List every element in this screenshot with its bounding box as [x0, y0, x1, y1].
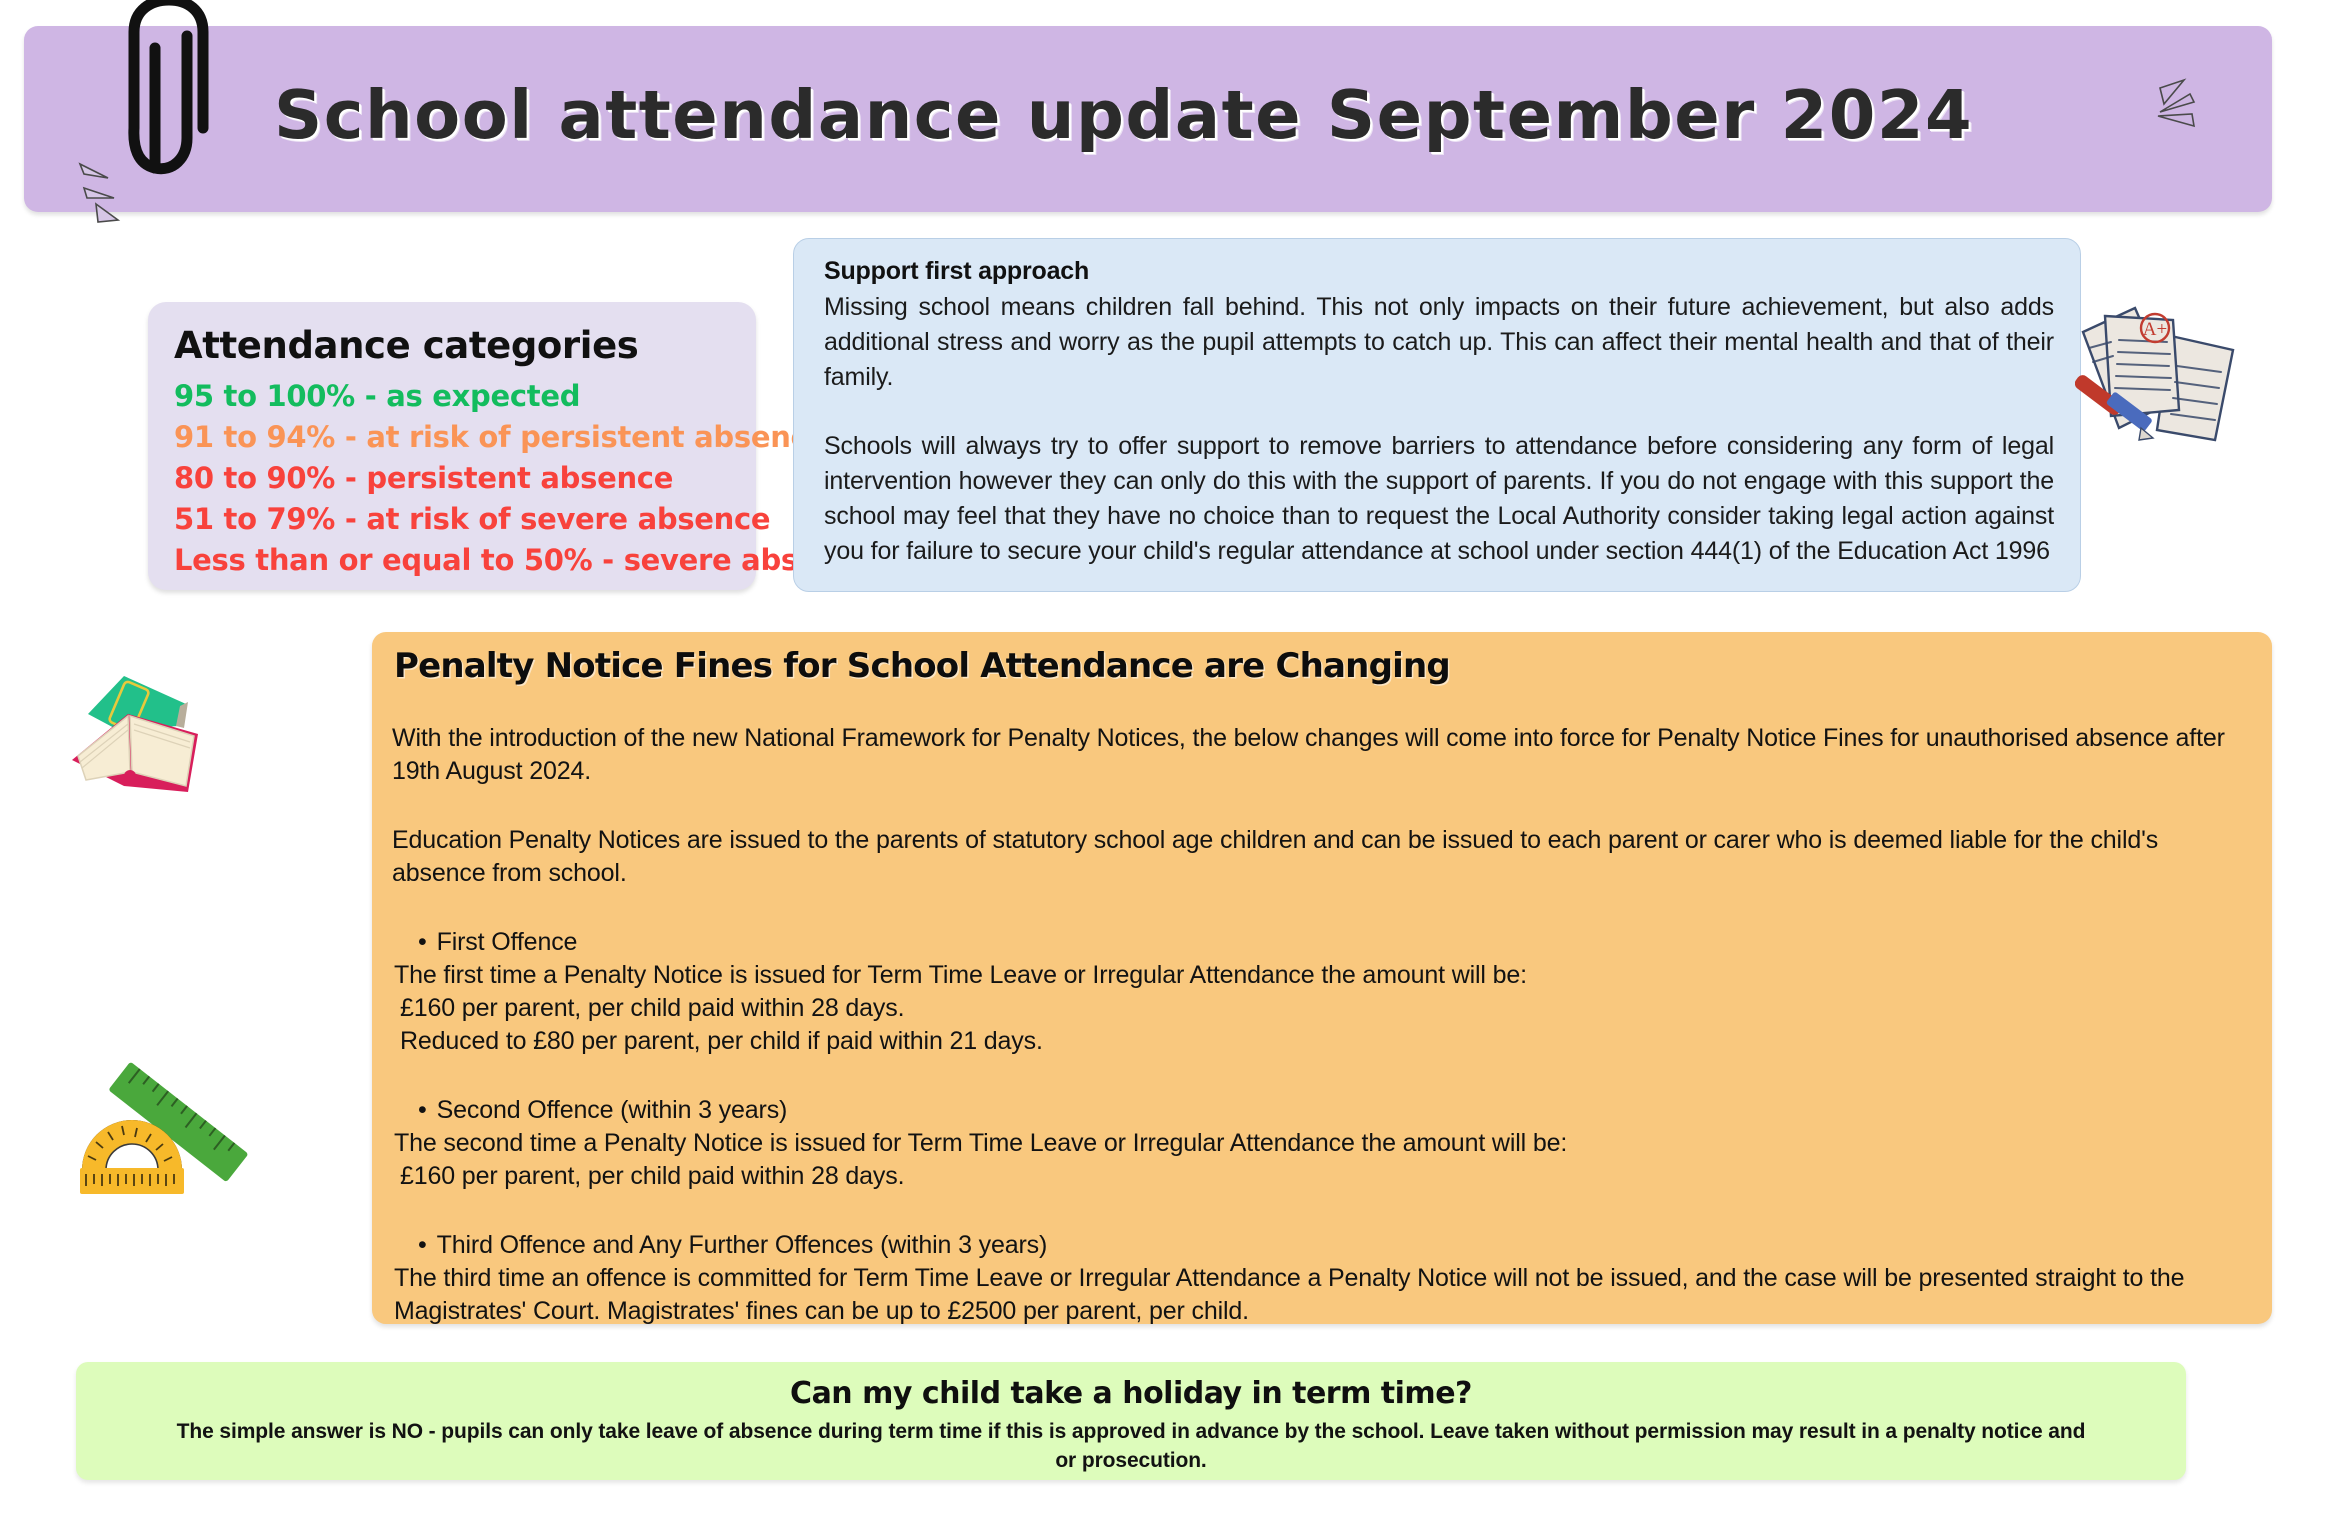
- offence-lead-text: The first time a Penalty Notice is issue…: [392, 959, 2246, 992]
- grade-label: A+: [2143, 319, 2167, 340]
- attendance-categories-title: Attendance categories: [174, 324, 730, 367]
- bullet-icon: •: [418, 928, 427, 956]
- attendance-categories-card: Attendance categories 95 to 100% - as ex…: [148, 302, 756, 590]
- paperclip-icon: [125, 0, 215, 176]
- penalty-intro-paragraph-1: With the introduction of the new Nationa…: [392, 722, 2246, 788]
- header-banner: School attendance update September 2024: [24, 26, 2272, 212]
- sparkle-icon: [2150, 76, 2230, 146]
- support-first-approach-title: Support first approach: [824, 257, 2054, 286]
- offence-bullet: •First Offence: [392, 926, 2246, 959]
- penalty-notice-title: Penalty Notice Fines for School Attendan…: [386, 646, 2246, 686]
- offence-bullet: •Second Offence (within 3 years): [392, 1094, 2246, 1127]
- offence-bullet: •Third Offence and Any Further Offences …: [392, 1229, 2246, 1262]
- ruler-and-protractor-icon: [62, 1062, 252, 1212]
- offence-label: Second Offence (within 3 years): [437, 1096, 788, 1124]
- books-icon: [58, 668, 258, 828]
- offence-label: Third Offence and Any Further Offences (…: [437, 1231, 1048, 1259]
- penalty-intro-paragraph-2: Education Penalty Notices are issued to …: [392, 824, 2246, 890]
- bullet-icon: •: [418, 1096, 427, 1124]
- offence-amount-line: £160 per parent, per child paid within 2…: [392, 992, 2246, 1025]
- page-title: School attendance update September 2024: [274, 76, 2104, 154]
- holiday-question-card: Can my child take a holiday in term time…: [76, 1362, 2186, 1480]
- offence-lead-text: The second time a Penalty Notice is issu…: [392, 1127, 2246, 1160]
- offence-amount-line: £160 per parent, per child paid within 2…: [392, 1160, 2246, 1193]
- papers-with-pen-icon: A+: [2075, 292, 2290, 477]
- offence-lead-text: The third time an offence is committed f…: [392, 1262, 2246, 1328]
- holiday-answer-text: The simple answer is NO - pupils can onl…: [166, 1417, 2096, 1475]
- penalty-notice-card: Penalty Notice Fines for School Attendan…: [372, 632, 2272, 1324]
- support-first-approach-card: Support first approach Missing school me…: [793, 238, 2081, 592]
- attendance-category-row: 95 to 100% - as expected: [174, 376, 730, 417]
- attendance-category-row: 51 to 79% - at risk of severe absence: [174, 499, 730, 540]
- attendance-category-row: 80 to 90% - persistent absence: [174, 458, 730, 499]
- bullet-icon: •: [418, 1231, 427, 1259]
- attendance-category-row: Less than or equal to 50% - severe absen…: [174, 540, 730, 581]
- attendance-category-row: 91 to 94% - at risk of persistent absenc…: [174, 417, 730, 458]
- holiday-question-title: Can my child take a holiday in term time…: [76, 1376, 2186, 1411]
- offence-label: First Offence: [437, 928, 578, 956]
- penalty-notice-body: With the introduction of the new Nationa…: [386, 722, 2246, 1328]
- support-paragraph-2: Schools will always try to offer support…: [824, 429, 2054, 569]
- offence-reduced-line: Reduced to £80 per parent, per child if …: [392, 1025, 2246, 1058]
- support-paragraph-1: Missing school means children fall behin…: [824, 290, 2054, 395]
